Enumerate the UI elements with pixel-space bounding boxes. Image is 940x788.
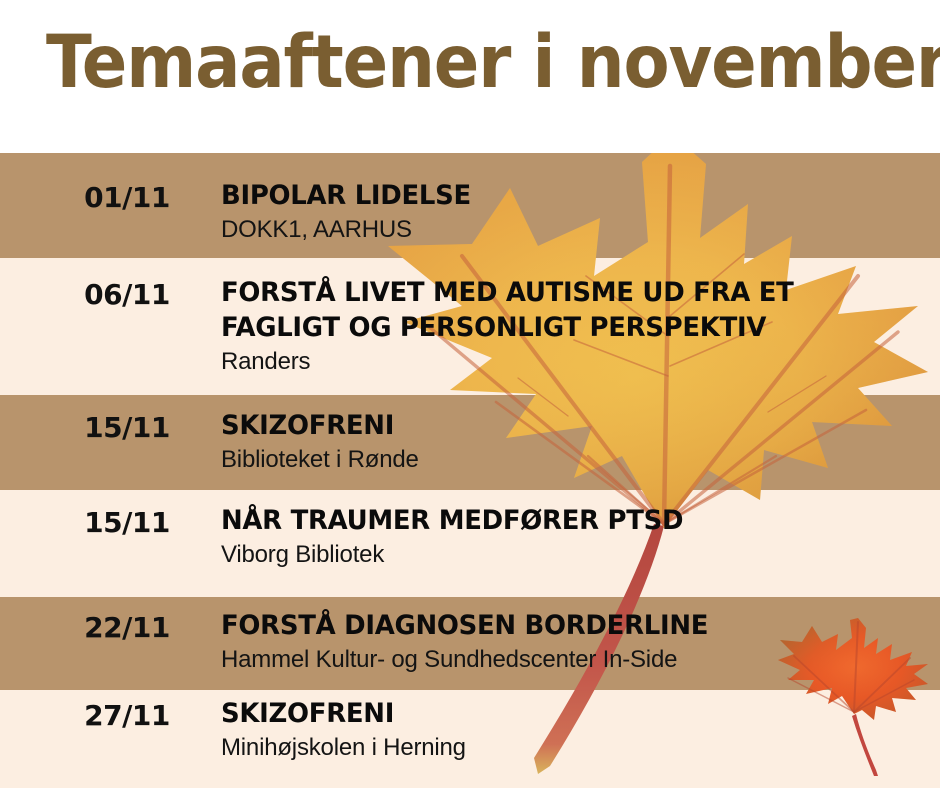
event-details: FORSTÅ DIAGNOSEN BORDERLINE Hammel Kultu… <box>221 608 921 675</box>
poster-header: Temaaftener i november <box>0 0 940 153</box>
event-title: NÅR TRAUMER MEDFØRER PTSD <box>221 503 893 538</box>
event-details: BIPOLAR LIDELSE DOKK1, AARHUS <box>221 178 921 245</box>
event-title: SKIZOFRENI <box>221 408 893 443</box>
page-title: Temaaftener i november <box>46 26 940 99</box>
event-details: FORSTÅ LIVET MED AUTISME UD FRA ET FAGLI… <box>221 275 921 377</box>
event-details: NÅR TRAUMER MEDFØRER PTSD Viborg Bibliot… <box>221 503 921 570</box>
event-venue: Hammel Kultur- og Sundhedscenter In-Side <box>221 644 921 675</box>
event-title: BIPOLAR LIDELSE <box>221 178 893 213</box>
event-title: FORSTÅ DIAGNOSEN BORDERLINE <box>221 608 893 643</box>
event-date: 06/11 <box>52 278 202 311</box>
event-date: 22/11 <box>52 611 202 644</box>
event-venue: Randers <box>221 346 921 377</box>
event-venue: Viborg Bibliotek <box>221 539 921 570</box>
event-venue: Minihøjskolen i Herning <box>221 732 921 763</box>
event-date: 15/11 <box>52 411 202 444</box>
event-date: 01/11 <box>52 181 202 214</box>
poster-canvas: Temaaftener i november 01/11 BIPOLAR LID… <box>0 0 940 788</box>
event-venue: DOKK1, AARHUS <box>221 214 921 245</box>
event-details: SKIZOFRENI Minihøjskolen i Herning <box>221 696 921 763</box>
event-title: FORSTÅ LIVET MED AUTISME UD FRA ET FAGLI… <box>221 275 893 345</box>
event-date: 27/11 <box>52 699 202 732</box>
event-details: SKIZOFRENI Biblioteket i Rønde <box>221 408 921 475</box>
event-date: 15/11 <box>52 506 202 539</box>
event-title: SKIZOFRENI <box>221 696 893 731</box>
event-venue: Biblioteket i Rønde <box>221 444 921 475</box>
